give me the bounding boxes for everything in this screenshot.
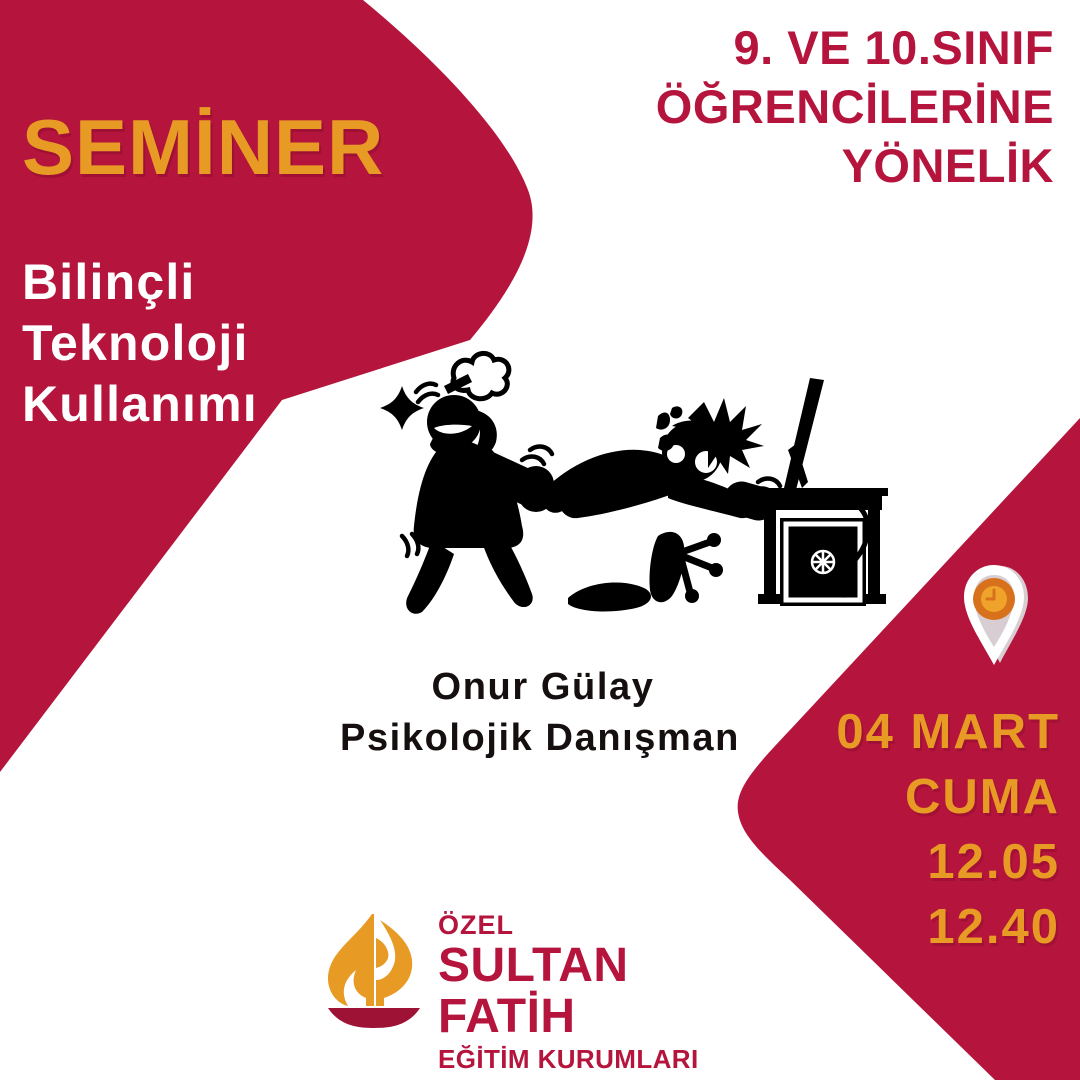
seminar-topic: Bilinçli Teknoloji Kullanımı — [22, 252, 258, 435]
seminar-badge-label: SEMİNER — [22, 108, 384, 186]
logo-bowl — [328, 1008, 420, 1028]
map-pin-clock-icon — [962, 563, 1030, 673]
motion-ticks-mid — [522, 447, 552, 464]
logo-flame-left — [328, 914, 374, 1006]
chair-caster-3 — [685, 589, 699, 603]
headline-line-2: ÖĞRENCİLERİNE — [534, 77, 1054, 136]
school-logo: ÖZEL SULTAN FATİH EĞİTİM KURUMLARI — [318, 908, 738, 1036]
pc-fan-icon — [812, 551, 834, 573]
headline-line-3: YÖNELİK — [534, 136, 1054, 195]
seminar-poster: SEMİNER Bilinçli Teknoloji Kullanımı 9. … — [0, 0, 1080, 1080]
flame-in-bowl-logo-mark — [318, 908, 430, 1028]
chair-caster-2 — [709, 563, 723, 577]
event-datetime-block: 04 MART CUMA 12.05 12.40 — [770, 700, 1060, 961]
logo-name: SULTAN FATİH — [438, 941, 738, 1043]
logo-flame-right — [376, 914, 412, 1006]
sweat-drop-3 — [670, 406, 682, 418]
event-date: 04 MART — [770, 700, 1060, 765]
topic-line-2: Teknoloji — [22, 313, 258, 374]
chair-seat — [568, 583, 651, 612]
topic-line-3: Kullanımı — [22, 374, 258, 435]
logo-suffix: EĞİTİM KURUMLARI — [438, 1046, 738, 1072]
event-time-end: 12.40 — [770, 895, 1060, 960]
event-day: CUMA — [770, 765, 1060, 830]
audience-headline: 9. VE 10.SINIF ÖĞRENCİLERİNE YÖNELİK — [534, 18, 1054, 196]
chair-caster-1 — [707, 533, 721, 547]
topic-line-1: Bilinçli — [22, 252, 258, 313]
parent-pulling-child-from-computer-illustration — [372, 340, 892, 630]
desk-side-left — [764, 508, 776, 602]
mother-leg-right — [482, 538, 533, 607]
logo-wordmark: ÖZEL SULTAN FATİH EĞİTİM KURUMLARI — [438, 912, 738, 1072]
event-time-start: 12.05 — [770, 830, 1060, 895]
sweat-drop-1 — [656, 413, 670, 430]
logo-prefix: ÖZEL — [438, 912, 738, 939]
headline-line-1: 9. VE 10.SINIF — [534, 18, 1054, 77]
steam-puff-icon — [453, 353, 509, 398]
motion-ticks-foot — [402, 534, 418, 556]
mother-leg-left — [406, 540, 454, 614]
motion-ticks-head — [416, 384, 438, 402]
desk-side-right — [868, 508, 880, 602]
